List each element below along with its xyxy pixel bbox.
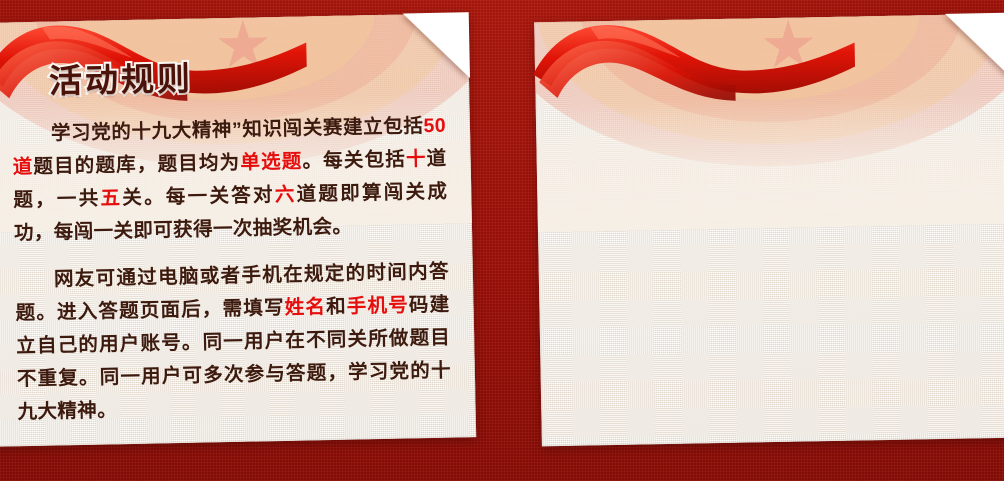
rules-title: 活动规则	[48, 52, 193, 103]
rules-card: 活动规则 学习党的十九大精神”知识闯关赛建立包括50道题目的题库，题目均为单选题…	[0, 13, 476, 447]
page-fold-corner	[403, 12, 470, 79]
rules-paragraph: 网友可通过电脑或者手机在规定的时间内答题。进入答题页面后，需填写姓名和手机号码建…	[15, 256, 452, 430]
rules-text: 。每关包括	[302, 148, 406, 172]
promo-banner: 活动规则 学习党的十九大精神”知识闯关赛建立包括50道题目的题库，题目均为单选题…	[0, 0, 1004, 481]
rules-text: 和	[326, 296, 347, 318]
prizes-paper	[534, 14, 1004, 447]
rules-highlight-text: 五	[100, 187, 122, 209]
rules-highlight-text: 单选题	[240, 151, 303, 174]
rules-highlight-text: 姓名	[284, 296, 326, 319]
rules-text: 学习党的十九大精神”知识闯关赛建立包括	[51, 115, 424, 144]
rules-text: 关。每一关答对	[122, 184, 275, 209]
rules-highlight-text: 六	[275, 184, 297, 206]
rules-highlight-text: 手机号	[347, 294, 410, 317]
rules-paragraph: 学习党的十九大精神”知识闯关赛建立包括50道题目的题库，题目均为单选题。每关包括…	[12, 110, 449, 251]
prizes-card: 奖项设置 一等奖2名奖品50元话费二等奖5名奖品30元话费三等奖20名奖品20元…	[534, 14, 1004, 447]
rules-text: 题目的题库，题目均为	[33, 152, 240, 178]
rules-highlight-text: 十	[406, 148, 427, 170]
rules-body: 学习党的十九大精神”知识闯关赛建立包括50道题目的题库，题目均为单选题。每关包括…	[12, 110, 452, 430]
page-fold-corner	[945, 13, 1004, 80]
